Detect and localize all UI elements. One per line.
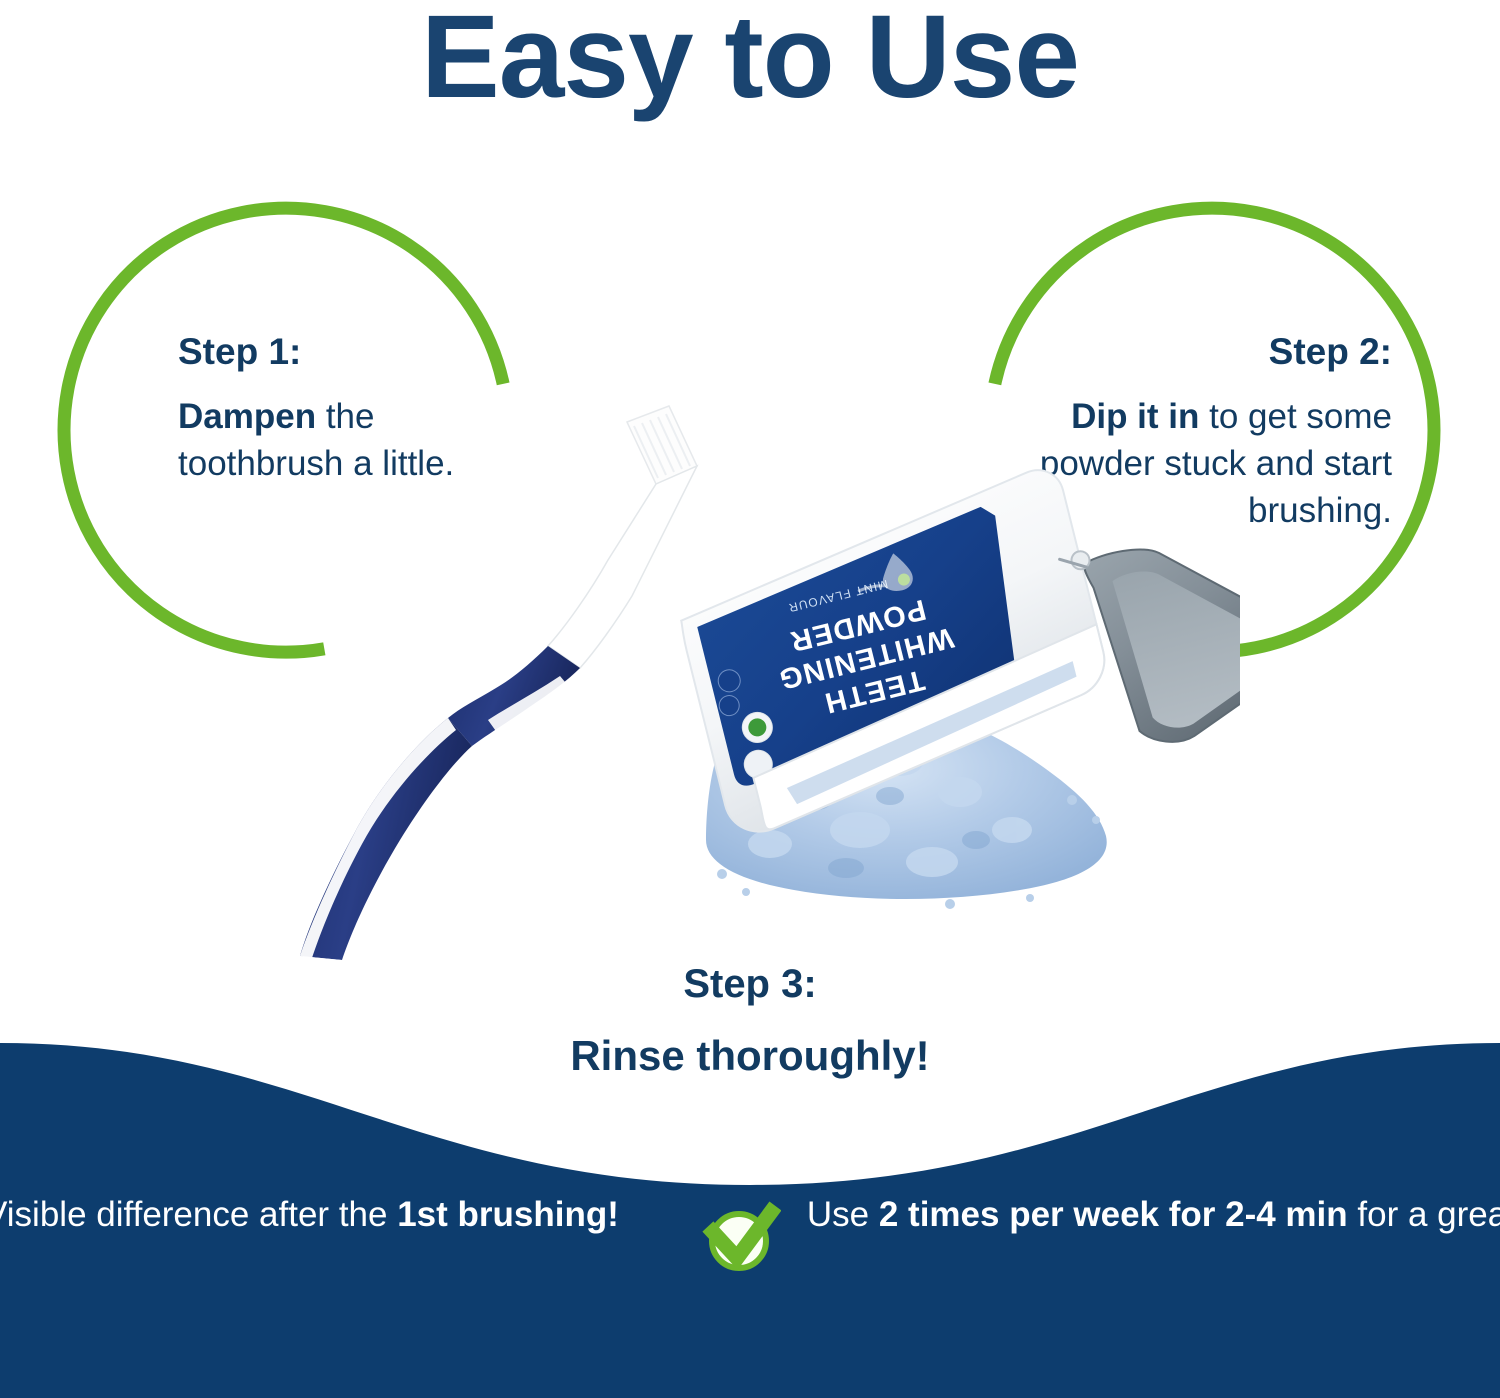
feature-item: Visible difference after the 1st brushin… — [0, 1190, 619, 1276]
step-1-label: Step 1: — [178, 332, 478, 373]
bottom-banner: Visible difference after the 1st brushin… — [0, 1030, 1500, 1398]
feature-text: Use 2 times per week for 2-4 min for a g… — [807, 1190, 1500, 1240]
infographic-page: Easy to Use Step 1: Dampen the toothbrus… — [0, 0, 1500, 1398]
feature-2-part2: for a great result. — [1348, 1195, 1500, 1234]
feature-text: Visible difference after the 1st brushin… — [0, 1190, 619, 1240]
feature-item: Use 2 times per week for 2-4 min for a g… — [701, 1190, 1500, 1276]
banner-features: Visible difference after the 1st brushin… — [0, 1190, 1500, 1276]
step-3-label: Step 3: — [0, 962, 1500, 1006]
product-photo: TEETH WHITENING POWDER MINT FLAVOUR — [260, 400, 1240, 960]
check-circle-icon — [701, 1196, 781, 1276]
toothbrush-graphic — [296, 406, 697, 960]
page-title: Easy to Use — [0, 0, 1500, 121]
feature-2-part1: Use — [807, 1195, 879, 1234]
feature-2-bold: 2 times per week for 2-4 min — [879, 1195, 1348, 1234]
feature-1-part1: Visible difference after the — [0, 1195, 397, 1234]
feature-1-bold: 1st brushing! — [397, 1195, 619, 1234]
step-2-label: Step 2: — [1020, 332, 1392, 373]
